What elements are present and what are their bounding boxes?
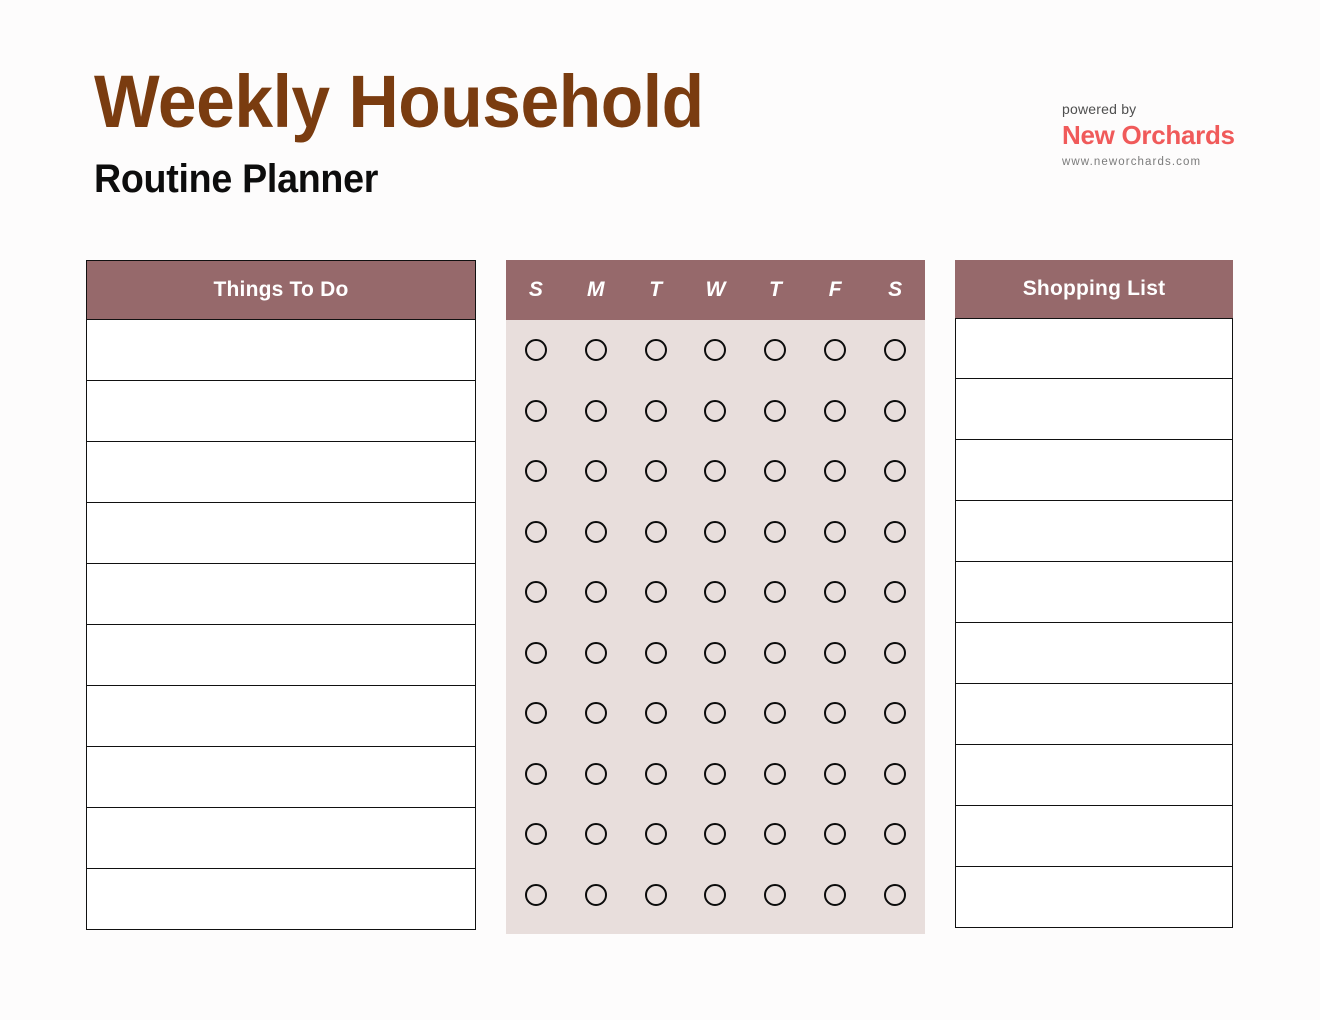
- circle-outline-icon[interactable]: [884, 400, 906, 422]
- circle-outline-icon[interactable]: [704, 823, 726, 845]
- circle-outline-icon[interactable]: [824, 400, 846, 422]
- day-checkbox-cell[interactable]: [805, 400, 865, 422]
- day-label-4: T: [745, 260, 805, 320]
- day-checkbox-cell[interactable]: [566, 521, 626, 543]
- day-label-0: S: [506, 260, 566, 320]
- day-checkbox-cell[interactable]: [506, 642, 566, 664]
- circle-outline-icon[interactable]: [645, 823, 667, 845]
- day-checkbox-cell[interactable]: [686, 581, 746, 603]
- things-to-do-row[interactable]: [86, 564, 476, 625]
- circle-outline-icon[interactable]: [704, 400, 726, 422]
- things-to-do-header: Things To Do: [86, 260, 476, 320]
- circle-outline-icon[interactable]: [764, 702, 786, 724]
- circle-outline-icon[interactable]: [824, 763, 846, 785]
- day-checkbox-cell[interactable]: [805, 460, 865, 482]
- day-checkbox-cell[interactable]: [686, 339, 746, 361]
- day-checkbox-cell[interactable]: [506, 763, 566, 785]
- day-checkbox-cell[interactable]: [745, 339, 805, 361]
- circle-outline-icon[interactable]: [824, 460, 846, 482]
- day-checkbox-cell[interactable]: [805, 642, 865, 664]
- shopping-list-row[interactable]: [955, 684, 1233, 745]
- circle-outline-icon[interactable]: [884, 642, 906, 664]
- things-to-do-panel: Things To Do: [86, 260, 476, 930]
- day-header-row: SMTWTFS: [506, 260, 925, 320]
- day-checkbox-cell[interactable]: [506, 884, 566, 906]
- circle-outline-icon[interactable]: [525, 521, 547, 543]
- circle-outline-icon[interactable]: [764, 642, 786, 664]
- circle-outline-icon[interactable]: [585, 823, 607, 845]
- day-checkbox-cell[interactable]: [566, 823, 626, 845]
- circle-outline-icon[interactable]: [704, 521, 726, 543]
- circle-outline-icon[interactable]: [525, 460, 547, 482]
- circle-outline-icon[interactable]: [645, 521, 667, 543]
- circle-outline-icon[interactable]: [884, 823, 906, 845]
- day-checkbox-cell[interactable]: [865, 884, 925, 906]
- day-checkbox-cell[interactable]: [626, 763, 686, 785]
- day-checkbox-cell[interactable]: [566, 460, 626, 482]
- circle-outline-icon[interactable]: [704, 339, 726, 361]
- circle-outline-icon[interactable]: [525, 642, 547, 664]
- day-checkbox-cell[interactable]: [506, 460, 566, 482]
- day-checkbox-cell[interactable]: [566, 702, 626, 724]
- circle-outline-icon[interactable]: [645, 642, 667, 664]
- day-checkbox-row: [506, 502, 925, 563]
- day-checkbox-cell[interactable]: [805, 884, 865, 906]
- circle-outline-icon[interactable]: [764, 521, 786, 543]
- shopping-list-row[interactable]: [955, 440, 1233, 501]
- circle-outline-icon[interactable]: [884, 339, 906, 361]
- circle-outline-icon[interactable]: [585, 642, 607, 664]
- day-checkbox-cell[interactable]: [686, 521, 746, 543]
- things-to-do-row[interactable]: [86, 625, 476, 686]
- things-to-do-row[interactable]: [86, 808, 476, 869]
- things-to-do-row[interactable]: [86, 442, 476, 503]
- circle-outline-icon[interactable]: [824, 884, 846, 906]
- day-checkbox-cell[interactable]: [805, 521, 865, 543]
- shopping-list-row[interactable]: [955, 501, 1233, 562]
- day-label-6: S: [865, 260, 925, 320]
- shopping-list-row[interactable]: [955, 745, 1233, 806]
- circle-outline-icon[interactable]: [764, 823, 786, 845]
- day-checkbox-cell[interactable]: [745, 702, 805, 724]
- circle-outline-icon[interactable]: [525, 884, 547, 906]
- day-checkbox-cell[interactable]: [805, 702, 865, 724]
- things-to-do-row[interactable]: [86, 686, 476, 747]
- circle-outline-icon[interactable]: [884, 460, 906, 482]
- shopping-list-row[interactable]: [955, 318, 1233, 379]
- day-checkbox-cell[interactable]: [506, 400, 566, 422]
- day-checkbox-cell[interactable]: [626, 823, 686, 845]
- weekly-household-routine-planner: Weekly Household Routine Planner powered…: [0, 0, 1320, 1020]
- circle-outline-icon[interactable]: [884, 884, 906, 906]
- day-label-1: M: [566, 260, 626, 320]
- circle-outline-icon[interactable]: [525, 702, 547, 724]
- day-checkbox-row: [506, 865, 925, 926]
- circle-outline-icon[interactable]: [645, 763, 667, 785]
- day-checkbox-cell[interactable]: [626, 521, 686, 543]
- shopping-list-row[interactable]: [955, 562, 1233, 623]
- day-checkbox-row: [506, 623, 925, 684]
- day-checkbox-cell[interactable]: [805, 823, 865, 845]
- shopping-list-row[interactable]: [955, 623, 1233, 684]
- day-checkbox-cell[interactable]: [686, 400, 746, 422]
- day-checkbox-cell[interactable]: [865, 763, 925, 785]
- powered-by-label: powered by: [1062, 100, 1262, 118]
- shopping-list-header: Shopping List: [955, 260, 1233, 318]
- circle-outline-icon[interactable]: [704, 763, 726, 785]
- circle-outline-icon[interactable]: [884, 702, 906, 724]
- day-tracker-panel: SMTWTFS: [506, 260, 925, 934]
- circle-outline-icon[interactable]: [824, 339, 846, 361]
- circle-outline-icon[interactable]: [764, 339, 786, 361]
- day-checkbox-cell[interactable]: [865, 642, 925, 664]
- day-checkbox-row: [506, 744, 925, 805]
- circle-outline-icon[interactable]: [824, 823, 846, 845]
- circle-outline-icon[interactable]: [704, 642, 726, 664]
- day-checkbox-cell[interactable]: [566, 400, 626, 422]
- day-checkbox-cell[interactable]: [566, 763, 626, 785]
- day-checkbox-row: [506, 320, 925, 381]
- day-checkbox-cell[interactable]: [865, 521, 925, 543]
- circle-outline-icon[interactable]: [525, 763, 547, 785]
- circle-outline-icon[interactable]: [884, 763, 906, 785]
- day-checkbox-cell[interactable]: [686, 823, 746, 845]
- circle-outline-icon[interactable]: [585, 581, 607, 603]
- day-checkbox-cell[interactable]: [566, 581, 626, 603]
- day-checkbox-row: [506, 804, 925, 865]
- day-checkbox-cell[interactable]: [865, 460, 925, 482]
- day-checkbox-cell[interactable]: [506, 581, 566, 603]
- circle-outline-icon[interactable]: [585, 400, 607, 422]
- circle-outline-icon[interactable]: [645, 400, 667, 422]
- circle-outline-icon[interactable]: [824, 521, 846, 543]
- day-checkbox-cell[interactable]: [686, 763, 746, 785]
- day-label-5: F: [805, 260, 865, 320]
- day-checkbox-cell[interactable]: [745, 642, 805, 664]
- things-to-do-row[interactable]: [86, 503, 476, 564]
- circle-outline-icon[interactable]: [884, 581, 906, 603]
- day-label-2: T: [626, 260, 686, 320]
- day-checkbox-cell[interactable]: [805, 763, 865, 785]
- day-checkbox-row: [506, 441, 925, 502]
- circle-outline-icon[interactable]: [525, 339, 547, 361]
- things-to-do-row[interactable]: [86, 747, 476, 808]
- circle-outline-icon[interactable]: [645, 460, 667, 482]
- day-checkbox-cell[interactable]: [686, 642, 746, 664]
- circle-outline-icon[interactable]: [764, 400, 786, 422]
- circle-outline-icon[interactable]: [704, 581, 726, 603]
- day-checkbox-cell[interactable]: [865, 581, 925, 603]
- circle-outline-icon[interactable]: [884, 521, 906, 543]
- title-block: Weekly Household Routine Planner: [94, 66, 854, 199]
- day-checkbox-cell[interactable]: [686, 702, 746, 724]
- brand-block: powered by New Orchards www.neworchards.…: [1062, 100, 1262, 168]
- circle-outline-icon[interactable]: [585, 702, 607, 724]
- day-checkbox-row: [506, 381, 925, 442]
- circle-outline-icon[interactable]: [704, 702, 726, 724]
- day-checkbox-cell[interactable]: [865, 702, 925, 724]
- circle-outline-icon[interactable]: [764, 581, 786, 603]
- circle-outline-icon[interactable]: [824, 642, 846, 664]
- circle-outline-icon[interactable]: [645, 884, 667, 906]
- day-checkbox-cell[interactable]: [566, 884, 626, 906]
- day-checkbox-cell[interactable]: [865, 823, 925, 845]
- day-checkbox-cell[interactable]: [566, 339, 626, 361]
- day-checkbox-cell[interactable]: [626, 642, 686, 664]
- day-checkbox-cell[interactable]: [865, 339, 925, 361]
- day-checkbox-cell[interactable]: [566, 642, 626, 664]
- shopping-list-panel: Shopping List: [955, 260, 1233, 928]
- circle-outline-icon[interactable]: [764, 763, 786, 785]
- circle-outline-icon[interactable]: [585, 460, 607, 482]
- things-to-do-rows: [86, 320, 476, 930]
- day-checkbox-cell[interactable]: [626, 884, 686, 906]
- day-checkbox-cell[interactable]: [506, 823, 566, 845]
- circle-outline-icon[interactable]: [525, 581, 547, 603]
- circle-outline-icon[interactable]: [585, 763, 607, 785]
- day-checkbox-cell[interactable]: [686, 460, 746, 482]
- day-checkbox-row: [506, 683, 925, 744]
- circle-outline-icon[interactable]: [764, 884, 786, 906]
- circle-outline-icon[interactable]: [764, 460, 786, 482]
- page-subtitle: Routine Planner: [94, 159, 808, 199]
- day-checkbox-cell[interactable]: [745, 400, 805, 422]
- circle-outline-icon[interactable]: [585, 884, 607, 906]
- brand-url[interactable]: www.neworchards.com: [1062, 156, 1262, 168]
- day-checkbox-cell[interactable]: [506, 521, 566, 543]
- day-checkbox-cell[interactable]: [745, 823, 805, 845]
- day-checkbox-cell[interactable]: [745, 763, 805, 785]
- day-checkbox-cell[interactable]: [626, 400, 686, 422]
- circle-outline-icon[interactable]: [824, 702, 846, 724]
- circle-outline-icon[interactable]: [585, 339, 607, 361]
- page-title: Weekly Household: [94, 66, 808, 139]
- circle-outline-icon[interactable]: [585, 521, 607, 543]
- day-checkbox-cell[interactable]: [805, 339, 865, 361]
- circle-outline-icon[interactable]: [525, 823, 547, 845]
- circle-outline-icon[interactable]: [645, 581, 667, 603]
- day-checkbox-cell[interactable]: [745, 581, 805, 603]
- day-checkbox-cell[interactable]: [626, 702, 686, 724]
- shopping-list-rows: [955, 318, 1233, 928]
- day-checkbox-cell[interactable]: [506, 702, 566, 724]
- day-label-3: W: [686, 260, 746, 320]
- day-checkbox-row: [506, 562, 925, 623]
- day-checkbox-cell[interactable]: [805, 581, 865, 603]
- day-checkbox-cell[interactable]: [626, 339, 686, 361]
- day-checkbox-cell[interactable]: [865, 400, 925, 422]
- day-checkbox-cell[interactable]: [506, 339, 566, 361]
- circle-outline-icon[interactable]: [645, 702, 667, 724]
- things-to-do-row[interactable]: [86, 320, 476, 381]
- shopping-list-row[interactable]: [955, 379, 1233, 440]
- circle-outline-icon[interactable]: [645, 339, 667, 361]
- things-to-do-row[interactable]: [86, 869, 476, 930]
- day-checkbox-cell[interactable]: [745, 521, 805, 543]
- day-checkbox-cell[interactable]: [686, 884, 746, 906]
- circle-outline-icon[interactable]: [704, 460, 726, 482]
- day-checkbox-cell[interactable]: [745, 884, 805, 906]
- circle-outline-icon[interactable]: [704, 884, 726, 906]
- day-checkbox-cell[interactable]: [626, 581, 686, 603]
- day-checkbox-cell[interactable]: [745, 460, 805, 482]
- day-checkbox-rows: [506, 320, 925, 925]
- circle-outline-icon[interactable]: [824, 581, 846, 603]
- brand-name: New Orchards: [1062, 120, 1262, 151]
- day-checkbox-cell[interactable]: [626, 460, 686, 482]
- circle-outline-icon[interactable]: [525, 400, 547, 422]
- shopping-list-row[interactable]: [955, 806, 1233, 867]
- things-to-do-row[interactable]: [86, 381, 476, 442]
- shopping-list-row[interactable]: [955, 867, 1233, 928]
